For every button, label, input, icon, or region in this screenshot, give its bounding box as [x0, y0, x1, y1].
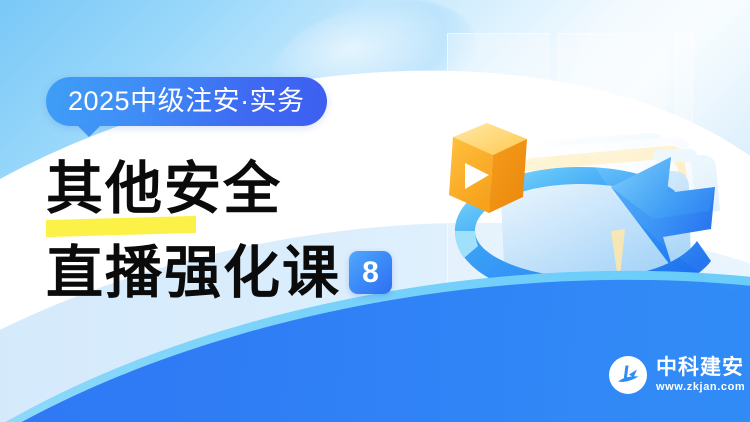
- headline-line-1: 其他安全: [46, 158, 392, 234]
- brand-url: www.zkjan.com: [656, 382, 745, 393]
- headline-text-1: 其他安全: [46, 155, 282, 222]
- episode-badge: 8: [349, 251, 392, 294]
- headline: 其他安全 直播强化课8: [46, 158, 392, 318]
- headline-text-2: 直播强化课: [46, 239, 341, 306]
- course-tag-label: 2025中级注安·实务: [46, 77, 327, 126]
- tag-tail-icon: [76, 124, 102, 137]
- brand-logo: 中科建安 www.zkjan.com: [609, 356, 745, 394]
- brand-text: 中科建安 www.zkjan.com: [656, 357, 745, 393]
- brand-name: 中科建安: [656, 357, 745, 378]
- course-tag: 2025中级注安·实务: [46, 77, 327, 126]
- course-poster: 2025中级注安·实务 其他安全 直播强化课8 中科建安 www.zkjan.c…: [0, 0, 750, 422]
- headline-line-2: 直播强化课8: [46, 242, 392, 318]
- zkjan-logo-icon: [609, 356, 647, 394]
